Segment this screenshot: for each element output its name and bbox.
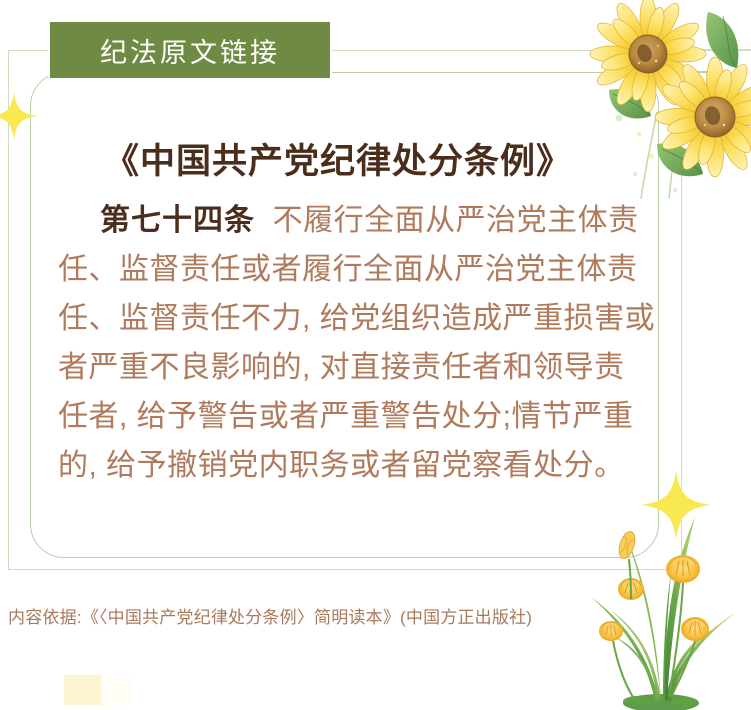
article-content: 《中国共产党纪律处分条例》 第七十四条 不履行全面从严治党主体责 任、监督责任或… xyxy=(58,138,618,490)
frame-line-extension-outer xyxy=(659,49,751,51)
grass-flowers-illustration xyxy=(575,481,745,710)
article-body-line-5: 任者, 给予警告或者严重警告处分;情节严重 xyxy=(58,392,618,441)
header-banner: 纪法原文链接 xyxy=(50,22,330,78)
article-body-line-4: 者严重不良影响的, 对直接责任者和领导责 xyxy=(58,343,618,392)
article-body-line-6: 的, 给予撤销党内职务或者留党察看处分。 xyxy=(58,441,618,490)
article-body-line-1-text: 不履行全面从严治党主体责 xyxy=(273,204,639,237)
cream-swatch-block xyxy=(64,675,101,705)
article-body: 第七十四条 不履行全面从严治党主体责 任、监督责任或者履行全面从严治党主体责 任… xyxy=(58,196,618,490)
article-body-line-2: 任、监督责任或者履行全面从严治党主体责 xyxy=(58,245,618,294)
cream-swatch-block-secondary xyxy=(101,675,132,705)
article-number-label: 第七十四条 xyxy=(100,204,255,237)
poster-canvas: 纪法原文链接 《中国共产党纪律处分条例》 第七十四条 不履行全面从严治党主体责 … xyxy=(0,0,751,710)
article-body-line-1: 第七十四条 不履行全面从严治党主体责 xyxy=(58,196,618,245)
frame-line-extension-inner xyxy=(659,71,719,73)
article-body-line-3: 任、监督责任不力, 给党组织造成严重损害或 xyxy=(58,294,618,343)
document-title: 《中国共产党纪律处分条例》 xyxy=(58,138,618,186)
header-banner-label: 纪法原文链接 xyxy=(100,31,280,70)
sparkle-star-left-icon xyxy=(0,92,38,140)
source-attribution-note: 内容依据:《〈中国共产党纪律处分条例〉简明读本》(中国方正出版社) xyxy=(8,603,532,628)
sparkle-star-right-icon xyxy=(641,470,711,540)
